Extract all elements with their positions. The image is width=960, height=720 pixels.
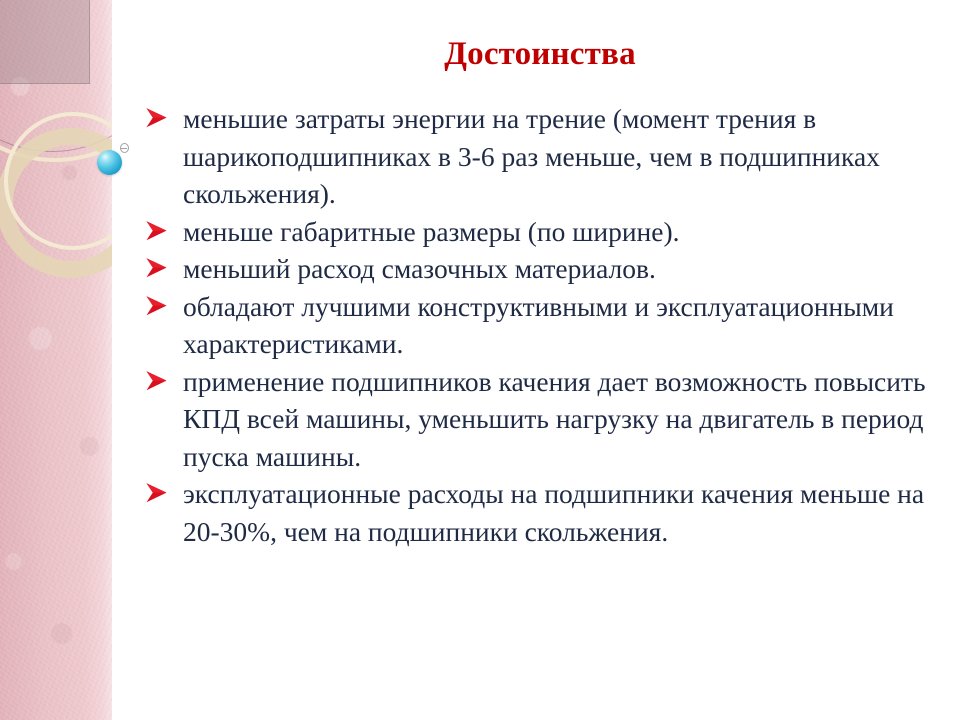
arrow-right-bullet-icon: [145, 295, 169, 317]
bullet-list-item-text: обладают лучшими конструктивными и экспл…: [183, 288, 943, 363]
arrow-right-bullet-icon: [145, 220, 169, 242]
slide-body-bullet-list: меньшие затраты энергии на трение (момен…: [143, 100, 943, 550]
bullet-list-item-text: меньше габаритные размеры (по ширине).: [183, 213, 943, 251]
bullet-list-item: применение подшипников качения дает возм…: [143, 363, 943, 476]
bullet-list-item-text: меньшие затраты энергии на трение (момен…: [183, 100, 943, 213]
bullet-list-item-text: применение подшипников качения дает возм…: [183, 363, 943, 476]
bullet-list-item: обладают лучшими конструктивными и экспл…: [143, 288, 943, 363]
decoration-blue-sphere-icon: [97, 150, 122, 175]
arrow-right-bullet-icon: [145, 482, 169, 504]
bullet-list-item-text: эксплуатационные расходы на подшипники к…: [183, 475, 943, 550]
arrow-right-bullet-icon: [145, 107, 169, 129]
bullet-list-item: эксплуатационные расходы на подшипники к…: [143, 475, 943, 550]
bullet-list-item: меньший расход смазочных материалов.: [143, 250, 943, 288]
bullet-list-item-text: меньший расход смазочных материалов.: [183, 250, 943, 288]
slide-title: Достоинства: [140, 34, 940, 74]
slide-decoration-panel: [0, 0, 112, 720]
decoration-small-circle-glyph-icon: [120, 143, 129, 153]
bullet-list-item: меньшие затраты энергии на трение (момен…: [143, 100, 943, 213]
arrow-right-bullet-icon: [145, 370, 169, 392]
bullet-list-item: меньше габаритные размеры (по ширине).: [143, 213, 943, 251]
presentation-slide: Достоинства меньшие затраты энергии на т…: [0, 0, 960, 720]
arrow-right-bullet-icon: [145, 257, 169, 279]
